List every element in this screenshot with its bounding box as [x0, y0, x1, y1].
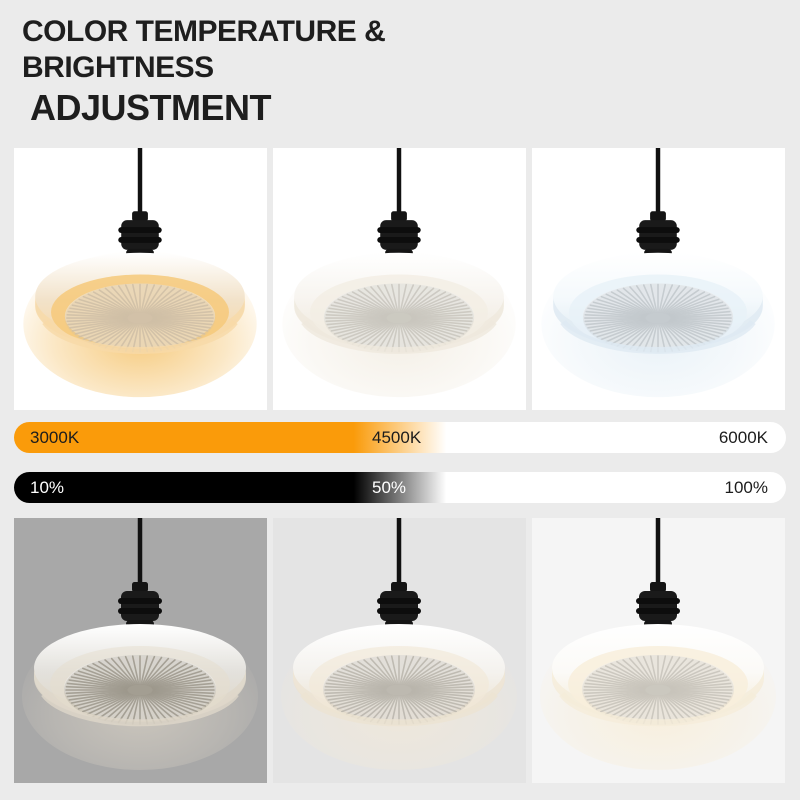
lamp-brightness-10 [14, 518, 267, 783]
brightness-scale-label-0: 10% [30, 472, 64, 503]
lamp-3000k [14, 148, 267, 410]
lamp-illustration [14, 148, 267, 410]
lamp-illustration [532, 518, 785, 783]
lamp-brightness-50 [273, 518, 526, 783]
lamp-6000k [532, 148, 785, 410]
lamp-illustration [273, 518, 526, 783]
product-feature-page: COLOR TEMPERATURE & BRIGHTNESS ADJUSTMEN… [0, 0, 800, 800]
page-title-line-3: ADJUSTMENT [22, 86, 800, 130]
page-title: COLOR TEMPERATURE & BRIGHTNESS ADJUSTMEN… [0, 0, 800, 130]
brightness-image-row [14, 518, 786, 783]
brightness-bar[interactable]: 10%50%100% [14, 472, 786, 503]
lamp-4500k [273, 148, 526, 410]
lamp-brightness-100 [532, 518, 785, 783]
color-temperature-bar[interactable]: 3000K4500K6000K [14, 422, 786, 453]
page-title-line-2: BRIGHTNESS [22, 50, 800, 86]
brightness-scale-label-1: 50% [372, 472, 406, 503]
page-title-line-1: COLOR TEMPERATURE & [22, 14, 800, 50]
color-temperature-scale-label-2: 6000K [719, 422, 768, 453]
color-temperature-scale-label-1: 4500K [372, 422, 421, 453]
lamp-illustration [532, 148, 785, 410]
color-temperature-image-row [14, 148, 786, 410]
brightness-scale-label-2: 100% [725, 472, 768, 503]
lamp-illustration [14, 518, 267, 783]
lamp-illustration [273, 148, 526, 410]
color-temperature-scale-label-0: 3000K [30, 422, 79, 453]
